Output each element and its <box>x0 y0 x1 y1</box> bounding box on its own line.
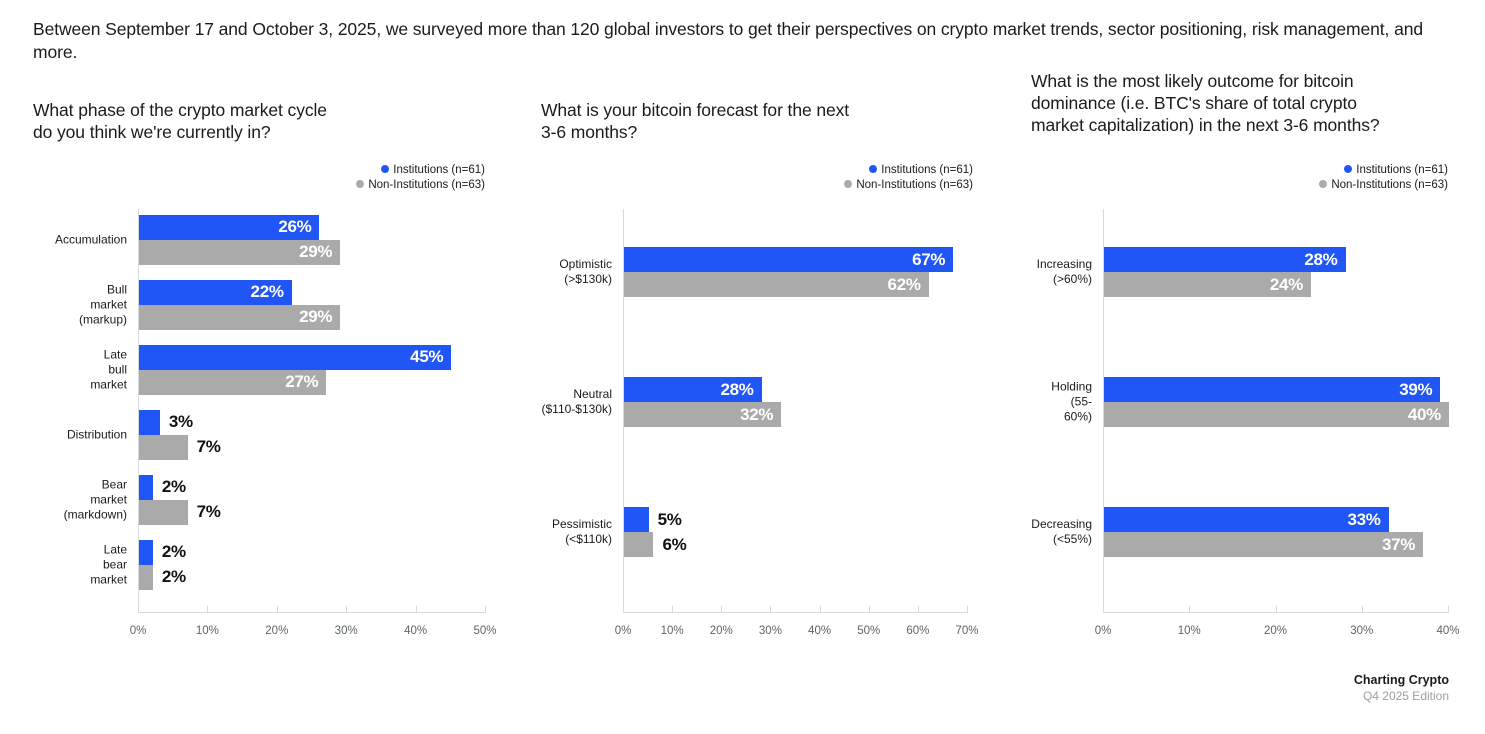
category-label: Neutral ($110-$130k) <box>542 387 613 417</box>
plot-area: 0%10%20%30%40%Increasing (>60%)28%24%Hol… <box>1103 209 1448 613</box>
bar-value-label: 26% <box>278 217 319 237</box>
bar-institutions: 26% <box>139 215 319 240</box>
x-axis-tick <box>1189 606 1190 613</box>
chart-panel-bitcoin-forecast: What is your bitcoin forecast for the ne… <box>541 70 991 670</box>
x-axis-tick <box>721 606 722 613</box>
plot-area: 0%10%20%30%40%50%Accumulation26%29%Bull … <box>138 209 485 613</box>
bar-value-label: 67% <box>912 250 953 270</box>
category-label: Decreasing (<55%) <box>1031 517 1092 547</box>
category-label: Pessimistic (<$110k) <box>552 517 612 547</box>
x-axis-tick-label: 0% <box>615 625 632 637</box>
bar-institutions: 2% <box>139 475 153 500</box>
bar-value-label: 29% <box>299 242 340 262</box>
bar-value-label: 3% <box>160 412 193 432</box>
bar-non-institutions: 24% <box>1104 272 1311 297</box>
x-axis-tick <box>207 606 208 613</box>
bar-chart: 0%10%20%30%40%50%Accumulation26%29%Bull … <box>33 70 503 670</box>
bar-institutions: 3% <box>139 410 160 435</box>
bar-institutions: 22% <box>139 280 292 305</box>
x-axis-tick-label: 20% <box>1264 625 1287 637</box>
bar-chart: 0%10%20%30%40%50%60%70%Optimistic (>$130… <box>541 70 991 670</box>
category-label: Bull market (markup) <box>79 282 127 327</box>
bar-value-label: 32% <box>740 405 781 425</box>
bar-non-institutions: 7% <box>139 435 188 460</box>
bar-value-label: 40% <box>1408 405 1449 425</box>
x-axis-tick <box>138 606 139 613</box>
x-axis-tick-label: 30% <box>335 625 358 637</box>
category-label: Increasing (>60%) <box>1037 257 1092 287</box>
bar-institutions: 45% <box>139 345 451 370</box>
category-label: Distribution <box>67 427 127 442</box>
category-label: Holding (55-60%) <box>1051 380 1092 425</box>
bar-non-institutions: 40% <box>1104 402 1449 427</box>
bar-value-label: 29% <box>299 307 340 327</box>
bar-non-institutions: 2% <box>139 565 153 590</box>
bar-value-label: 6% <box>653 535 686 555</box>
x-axis-tick <box>277 606 278 613</box>
x-axis-tick-label: 70% <box>955 625 978 637</box>
bar-value-label: 33% <box>1348 510 1389 530</box>
bar-institutions: 2% <box>139 540 153 565</box>
x-axis-tick <box>416 606 417 613</box>
intro-paragraph: Between September 17 and October 3, 2025… <box>33 18 1433 64</box>
bar-value-label: 62% <box>888 275 929 295</box>
bar-institutions: 5% <box>624 507 649 532</box>
bar-institutions: 28% <box>1104 247 1346 272</box>
plot-area: 0%10%20%30%40%50%60%70%Optimistic (>$130… <box>623 209 967 613</box>
bar-value-label: 2% <box>153 477 186 497</box>
x-axis-tick <box>770 606 771 613</box>
bar-value-label: 24% <box>1270 275 1311 295</box>
x-axis-tick-label: 40% <box>404 625 427 637</box>
bar-value-label: 45% <box>410 347 451 367</box>
bar-value-label: 27% <box>285 372 326 392</box>
x-axis-tick <box>1362 606 1363 613</box>
bar-institutions: 39% <box>1104 377 1440 402</box>
bar-institutions: 28% <box>624 377 762 402</box>
bar-value-label: 28% <box>720 380 761 400</box>
x-axis-tick <box>1276 606 1277 613</box>
bar-value-label: 37% <box>1382 535 1423 555</box>
x-axis-tick-label: 0% <box>1095 625 1112 637</box>
chart-panel-market-cycle: What phase of the crypto market cycle do… <box>33 70 503 670</box>
bar-value-label: 7% <box>188 502 221 522</box>
footer: Charting Crypto Q4 2025 Edition <box>1354 672 1449 704</box>
bar-non-institutions: 62% <box>624 272 929 297</box>
category-label: Accumulation <box>55 232 127 247</box>
bar-value-label: 7% <box>188 437 221 457</box>
x-axis-line <box>138 612 485 613</box>
category-label: Late bear market <box>90 542 127 587</box>
x-axis-tick <box>967 606 968 613</box>
bar-institutions: 67% <box>624 247 953 272</box>
x-axis-tick <box>1103 606 1104 613</box>
x-axis-tick-label: 10% <box>1178 625 1201 637</box>
x-axis-line <box>623 612 967 613</box>
bar-institutions: 33% <box>1104 507 1389 532</box>
x-axis-tick <box>485 606 486 613</box>
x-axis-tick-label: 40% <box>1436 625 1459 637</box>
x-axis-tick-label: 50% <box>473 625 496 637</box>
x-axis-tick <box>918 606 919 613</box>
x-axis-tick <box>820 606 821 613</box>
bar-non-institutions: 37% <box>1104 532 1423 557</box>
bar-value-label: 28% <box>1304 250 1345 270</box>
chart-panel-btc-dominance: What is the most likely outcome for bitc… <box>1031 70 1476 670</box>
x-axis-tick-label: 0% <box>130 625 147 637</box>
survey-infographic: Between September 17 and October 3, 2025… <box>0 0 1485 734</box>
x-axis-tick-label: 20% <box>710 625 733 637</box>
category-label: Bear market (markdown) <box>64 477 127 522</box>
x-axis-tick-label: 40% <box>808 625 831 637</box>
bar-non-institutions: 27% <box>139 370 326 395</box>
bar-non-institutions: 7% <box>139 500 188 525</box>
bar-non-institutions: 29% <box>139 240 340 265</box>
x-axis-tick-label: 50% <box>857 625 880 637</box>
x-axis-tick <box>346 606 347 613</box>
x-axis-tick-label: 10% <box>196 625 219 637</box>
x-axis-tick-label: 20% <box>265 625 288 637</box>
bar-chart: 0%10%20%30%40%Increasing (>60%)28%24%Hol… <box>1031 70 1476 670</box>
bar-value-label: 2% <box>153 567 186 587</box>
bar-value-label: 22% <box>251 282 292 302</box>
x-axis-tick-label: 30% <box>1350 625 1373 637</box>
bar-non-institutions: 32% <box>624 402 781 427</box>
bar-value-label: 5% <box>649 510 682 530</box>
x-axis-tick-label: 60% <box>906 625 929 637</box>
footer-brand: Charting Crypto <box>1354 672 1449 688</box>
category-label: Optimistic (>$130k) <box>559 257 612 287</box>
x-axis-tick <box>623 606 624 613</box>
bar-non-institutions: 29% <box>139 305 340 330</box>
x-axis-tick-label: 10% <box>661 625 684 637</box>
x-axis-tick <box>672 606 673 613</box>
x-axis-tick-label: 30% <box>759 625 782 637</box>
bar-value-label: 39% <box>1399 380 1440 400</box>
bar-non-institutions: 6% <box>624 532 653 557</box>
category-label: Late bull market <box>90 347 127 392</box>
bar-value-label: 2% <box>153 542 186 562</box>
x-axis-tick <box>869 606 870 613</box>
x-axis-tick <box>1448 606 1449 613</box>
footer-edition: Q4 2025 Edition <box>1354 688 1449 704</box>
